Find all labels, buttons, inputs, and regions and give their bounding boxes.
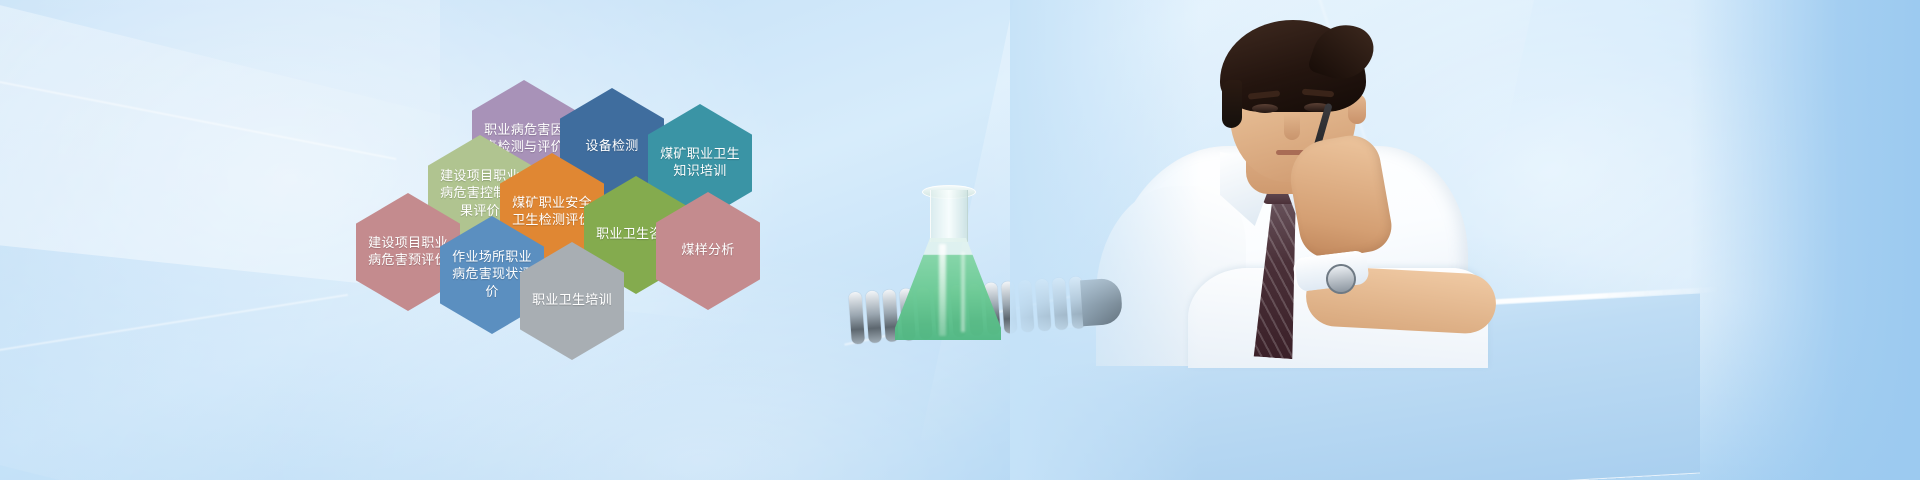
sideburn xyxy=(1222,80,1242,128)
hexagon-label: 煤样分析 xyxy=(681,242,734,259)
hexagon-label: 煤矿职业安全卫生检测评价 xyxy=(511,195,593,230)
erlenmeyer-flask xyxy=(895,190,1001,340)
hexagon-label: 职业卫生培训 xyxy=(532,292,612,309)
nose xyxy=(1284,114,1300,140)
hexagon-label: 煤矿职业卫生知识培训 xyxy=(659,146,741,181)
eye-left xyxy=(1252,104,1278,113)
hexagon-label: 建设项目职业病危害预评价 xyxy=(367,235,449,270)
hexagon-label: 设备检测 xyxy=(585,138,638,155)
flask-body xyxy=(895,238,1001,340)
flask-highlight-2 xyxy=(961,252,965,332)
flask-highlight-1 xyxy=(939,244,946,336)
hose-nozzle xyxy=(1080,278,1123,327)
lab-technician-photo xyxy=(1010,0,1710,480)
banner-root: 职业病危害因素检测与评价设备检测煤矿职业卫生知识培训建设项目职业病危害控制效果评… xyxy=(0,0,1920,480)
flask-neck xyxy=(930,190,968,242)
